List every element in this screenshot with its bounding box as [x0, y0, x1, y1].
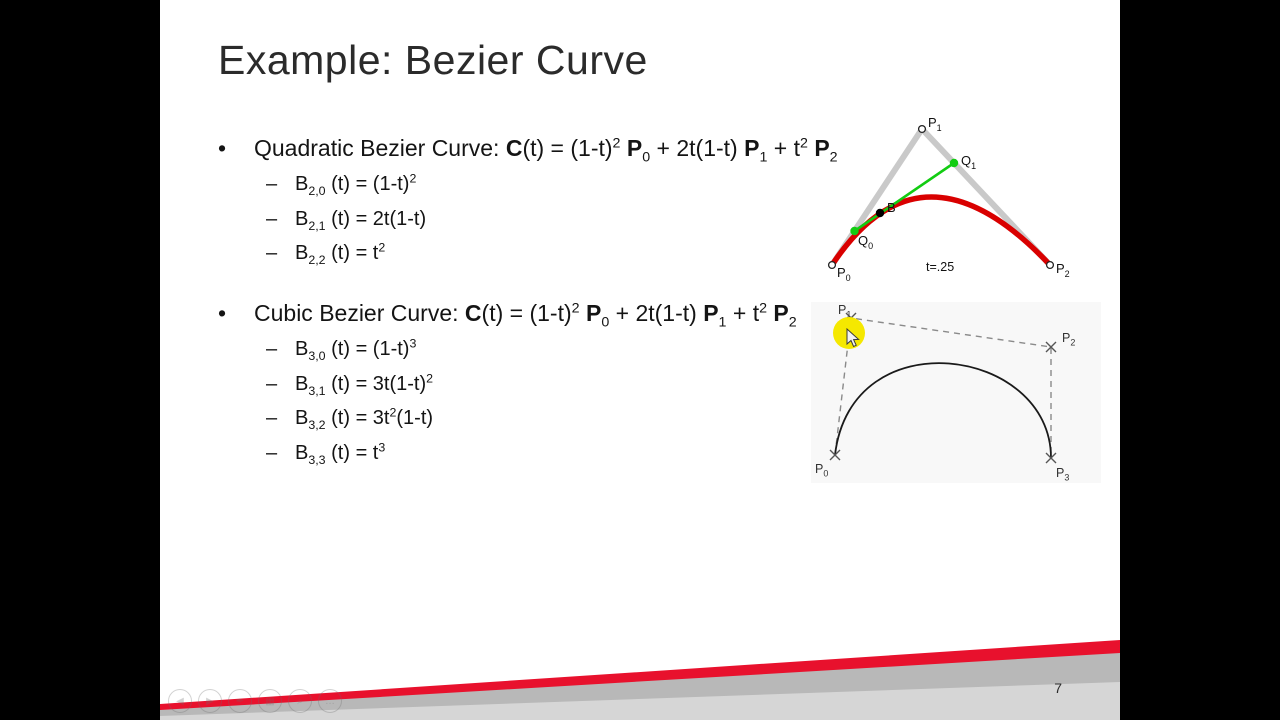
sub-bullet-b33-text: B3,3 (t) = t3	[295, 436, 385, 471]
point-p0-marker	[829, 262, 836, 269]
sub-bullet-marker-icon: –	[266, 367, 277, 402]
page-title: Example: Bezier Curve	[218, 38, 648, 83]
presentation-viewport: Example: Bezier Curve • Quadratic Bezier…	[0, 0, 1280, 720]
sub-bullet-b20: – B2,0 (t) = (1-t)2	[160, 167, 880, 202]
quad-label-p0: P0	[837, 265, 851, 283]
sub-bullet-b20-text: B2,0 (t) = (1-t)2	[295, 167, 416, 202]
sub-bullet-b32: – B3,2 (t) = 3t2(1-t)	[160, 401, 880, 436]
quadratic-bezier-diagram: P0 P1 P2 Q0 Q1 B t=.25	[810, 105, 1075, 285]
quad-label-p2: P2	[1056, 261, 1070, 279]
sub-bullet-marker-icon: –	[266, 236, 277, 271]
bullet-group-cubic: • Cubic Bezier Curve: C(t) = (1-t)2 P0 +…	[160, 296, 880, 470]
point-q1-marker	[950, 159, 958, 167]
sub-bullet-b32-text: B3,2 (t) = 3t2(1-t)	[295, 401, 433, 436]
sub-bullet-b21: – B2,1 (t) = 2t(1-t)	[160, 202, 880, 237]
more-options-icon[interactable]: …	[318, 689, 342, 713]
sub-bullet-b30-text: B3,0 (t) = (1-t)3	[295, 332, 416, 367]
letterbox-right	[1120, 0, 1280, 720]
quadratic-diagram-svg: P0 P1 P2 Q0 Q1 B t=.25	[810, 105, 1075, 285]
pen-icon[interactable]: ✒	[228, 689, 252, 713]
bullet-marker-icon: •	[218, 131, 226, 165]
slide-number: 7	[1054, 680, 1062, 696]
slide-canvas: Example: Bezier Curve • Quadratic Bezier…	[160, 0, 1120, 720]
all-slides-icon[interactable]: ▦	[258, 689, 282, 713]
cubic-bezier-curve	[835, 363, 1051, 458]
sub-bullet-marker-icon: –	[266, 401, 277, 436]
zoom-icon[interactable]: ⌕	[288, 689, 312, 713]
quad-label-q1: Q1	[961, 153, 976, 171]
point-b-marker	[876, 209, 884, 217]
quad-label-q0: Q0	[858, 233, 873, 251]
sub-bullet-b30: – B3,0 (t) = (1-t)3	[160, 332, 880, 367]
cubic-label-p0: P0	[815, 462, 828, 479]
quad-label-p1: P1	[928, 115, 942, 133]
sub-bullet-b22-text: B2,2 (t) = t2	[295, 236, 385, 271]
sub-bullet-marker-icon: –	[266, 167, 277, 202]
cubic-label-p3: P3	[1056, 466, 1069, 483]
quad-bezier-curve	[832, 197, 1050, 265]
sub-bullet-marker-icon: –	[266, 436, 277, 471]
sub-bullet-marker-icon: –	[266, 332, 277, 367]
bullet-quadratic-text: Quadratic Bezier Curve: C(t) = (1-t)2 P0…	[254, 131, 838, 165]
cubic-label-p2: P2	[1062, 331, 1075, 348]
quad-label-b: B	[887, 200, 896, 215]
sub-bullet-b31: – B3,1 (t) = 3t(1-t)2	[160, 367, 880, 402]
bullet-marker-icon: •	[218, 296, 226, 330]
bullet-cubic-text: Cubic Bezier Curve: C(t) = (1-t)2 P0 + 2…	[254, 296, 797, 330]
point-p1-marker	[919, 126, 926, 133]
sub-bullet-marker-icon: –	[266, 202, 277, 237]
mouse-cursor-icon	[846, 328, 862, 348]
bullet-group-quadratic: • Quadratic Bezier Curve: C(t) = (1-t)2 …	[160, 131, 880, 271]
point-p2-marker	[1047, 262, 1054, 269]
quad-label-t-value: t=.25	[926, 260, 954, 274]
next-slide-icon[interactable]: ▶	[198, 689, 222, 713]
presentation-controls[interactable]: ◀ ▶ ✒ ▦ ⌕ …	[160, 688, 368, 714]
sub-bullet-b31-text: B3,1 (t) = 3t(1-t)2	[295, 367, 433, 402]
bullet-quadratic-main: • Quadratic Bezier Curve: C(t) = (1-t)2 …	[160, 131, 880, 165]
sub-bullet-b21-text: B2,1 (t) = 2t(1-t)	[295, 202, 426, 237]
sub-bullet-b33: – B3,3 (t) = t3	[160, 436, 880, 471]
bullet-cubic-main: • Cubic Bezier Curve: C(t) = (1-t)2 P0 +…	[160, 296, 880, 330]
previous-slide-icon[interactable]: ◀	[168, 689, 192, 713]
letterbox-left	[0, 0, 160, 720]
sub-bullet-b22: – B2,2 (t) = t2	[160, 236, 880, 271]
